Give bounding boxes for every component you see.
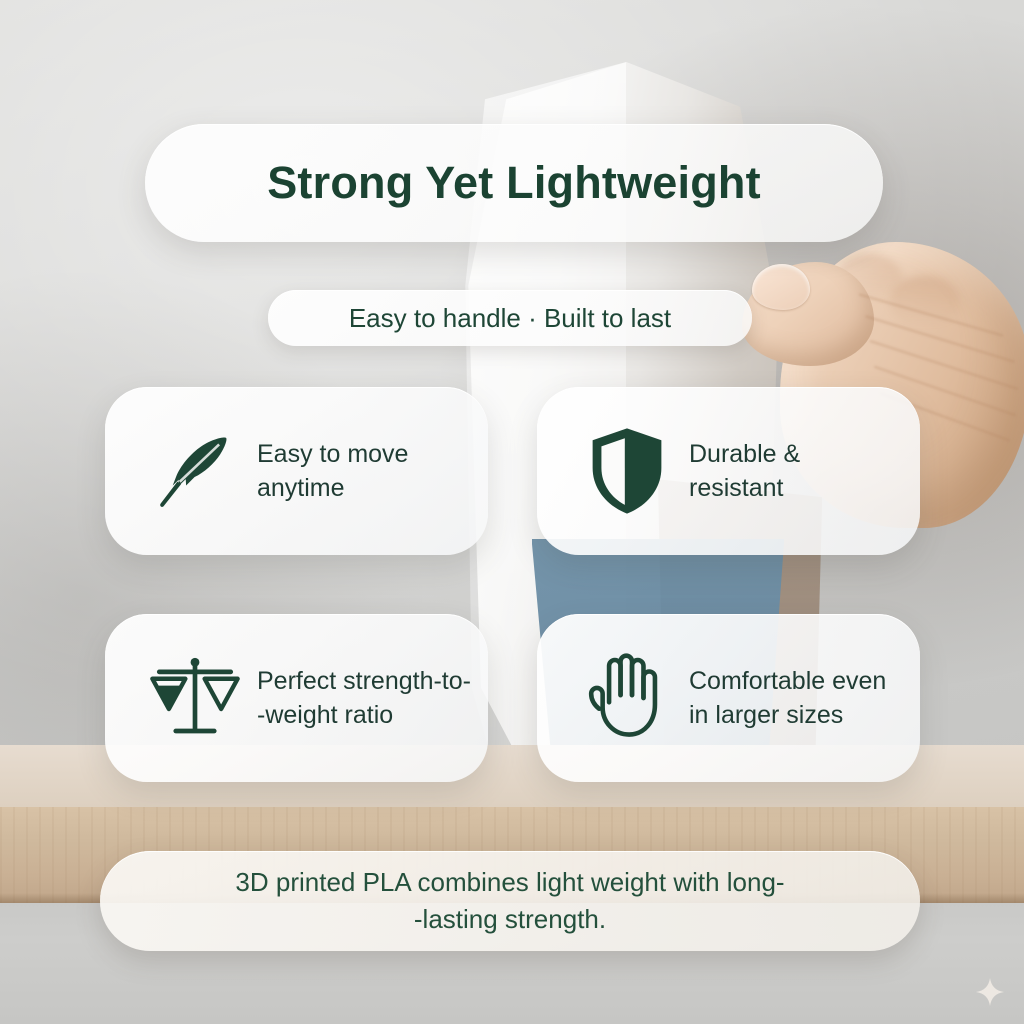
feature-card-easy-to-move[interactable]: Easy to move anytime <box>105 387 488 555</box>
feather-icon <box>143 419 247 523</box>
balance-scale-icon <box>143 646 247 750</box>
feature-label: Perfect strength-to- -weight ratio <box>257 664 471 732</box>
feature-card-strength-to-weight[interactable]: Perfect strength-to- -weight ratio <box>105 614 488 782</box>
hand-icon <box>575 646 679 750</box>
page-subtitle: Easy to handle · Built to last <box>349 303 671 334</box>
promo-graphic: Strong Yet Lightweight Easy to handle · … <box>0 0 1024 1024</box>
caption-pill: 3D printed PLA combines light weight wit… <box>100 851 920 951</box>
page-title: Strong Yet Lightweight <box>267 157 761 209</box>
feature-label: Durable & resistant <box>689 437 800 505</box>
feature-label: Easy to move anytime <box>257 437 408 505</box>
feature-card-durable[interactable]: Durable & resistant <box>537 387 920 555</box>
title-pill: Strong Yet Lightweight <box>145 124 883 242</box>
subtitle-pill: Easy to handle · Built to last <box>268 290 752 346</box>
footer-caption: 3D printed PLA combines light weight wit… <box>235 864 784 938</box>
sparkle-icon <box>975 977 1005 1007</box>
shield-icon <box>575 419 679 523</box>
feature-label: Comfortable even in larger sizes <box>689 664 886 732</box>
thumbnail <box>752 264 810 310</box>
feature-card-comfortable[interactable]: Comfortable even in larger sizes <box>537 614 920 782</box>
